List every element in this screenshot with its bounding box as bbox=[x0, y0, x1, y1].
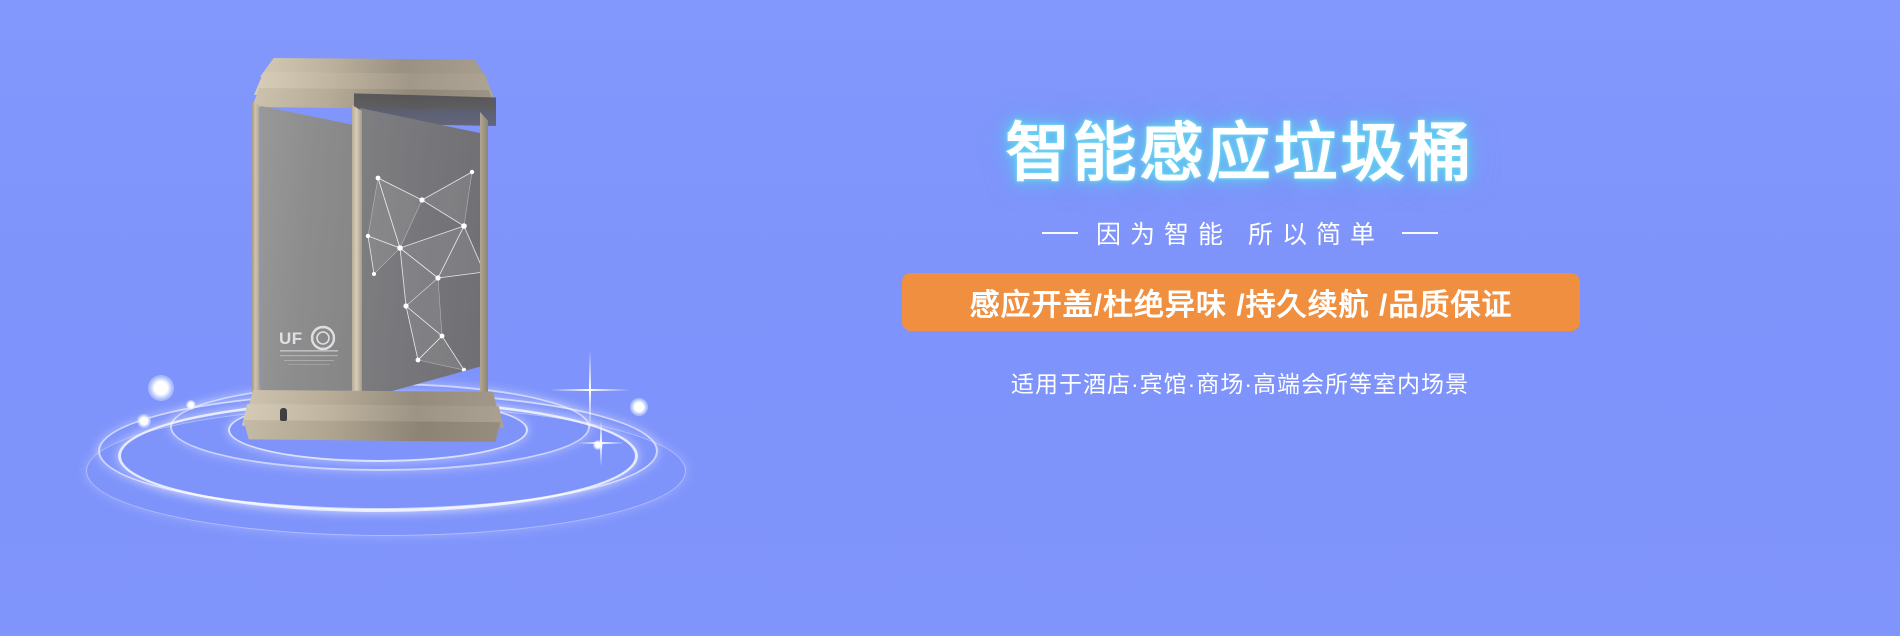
glow-dot-icon bbox=[630, 398, 648, 416]
product-scene: UF bbox=[0, 0, 860, 636]
low-poly-network-icon bbox=[360, 108, 486, 400]
feature-highlight-text: 感应开盖/杜绝异味 /持久续航 /品质保证 bbox=[970, 280, 1513, 324]
subtitle-text: 因为智能 所以简单 bbox=[1096, 215, 1384, 251]
bin-right-rail bbox=[480, 112, 488, 400]
bin-corner-edge bbox=[352, 102, 362, 402]
marketing-copy-block: 智能感应垃圾桶 因为智能 所以简单 感应开盖/杜绝异味 /持久续航 /品质保证 … bbox=[880, 0, 1900, 636]
page-title: 智能感应垃圾桶 bbox=[880, 118, 1600, 188]
svg-text:UF: UF bbox=[279, 329, 303, 348]
brand-logo-ufo: UF bbox=[278, 324, 340, 370]
bin-lock-icon bbox=[280, 408, 287, 421]
feature-highlight-bar: 感应开盖/杜绝异味 /持久续航 /品质保证 bbox=[902, 273, 1580, 331]
glow-dot-icon bbox=[148, 375, 174, 401]
glow-dot-icon bbox=[186, 400, 196, 410]
bin-left-rail bbox=[252, 102, 259, 398]
usage-scenario-caption: 适用于酒店·宾馆·商场·高端会所等室内场景 bbox=[880, 365, 1600, 399]
product-image-trash-bin: UF bbox=[236, 58, 506, 428]
product-banner: UF bbox=[0, 0, 1900, 636]
sparkle-icon bbox=[578, 420, 624, 466]
bin-face-right bbox=[360, 108, 486, 400]
subtitle-row: 因为智能 所以简单 bbox=[880, 215, 1600, 251]
dash-right-icon bbox=[1402, 232, 1438, 234]
glow-dot-icon bbox=[137, 414, 151, 428]
sparkle-icon bbox=[550, 350, 630, 430]
bin-base-tier-3 bbox=[238, 420, 506, 442]
dash-left-icon bbox=[1042, 232, 1078, 234]
